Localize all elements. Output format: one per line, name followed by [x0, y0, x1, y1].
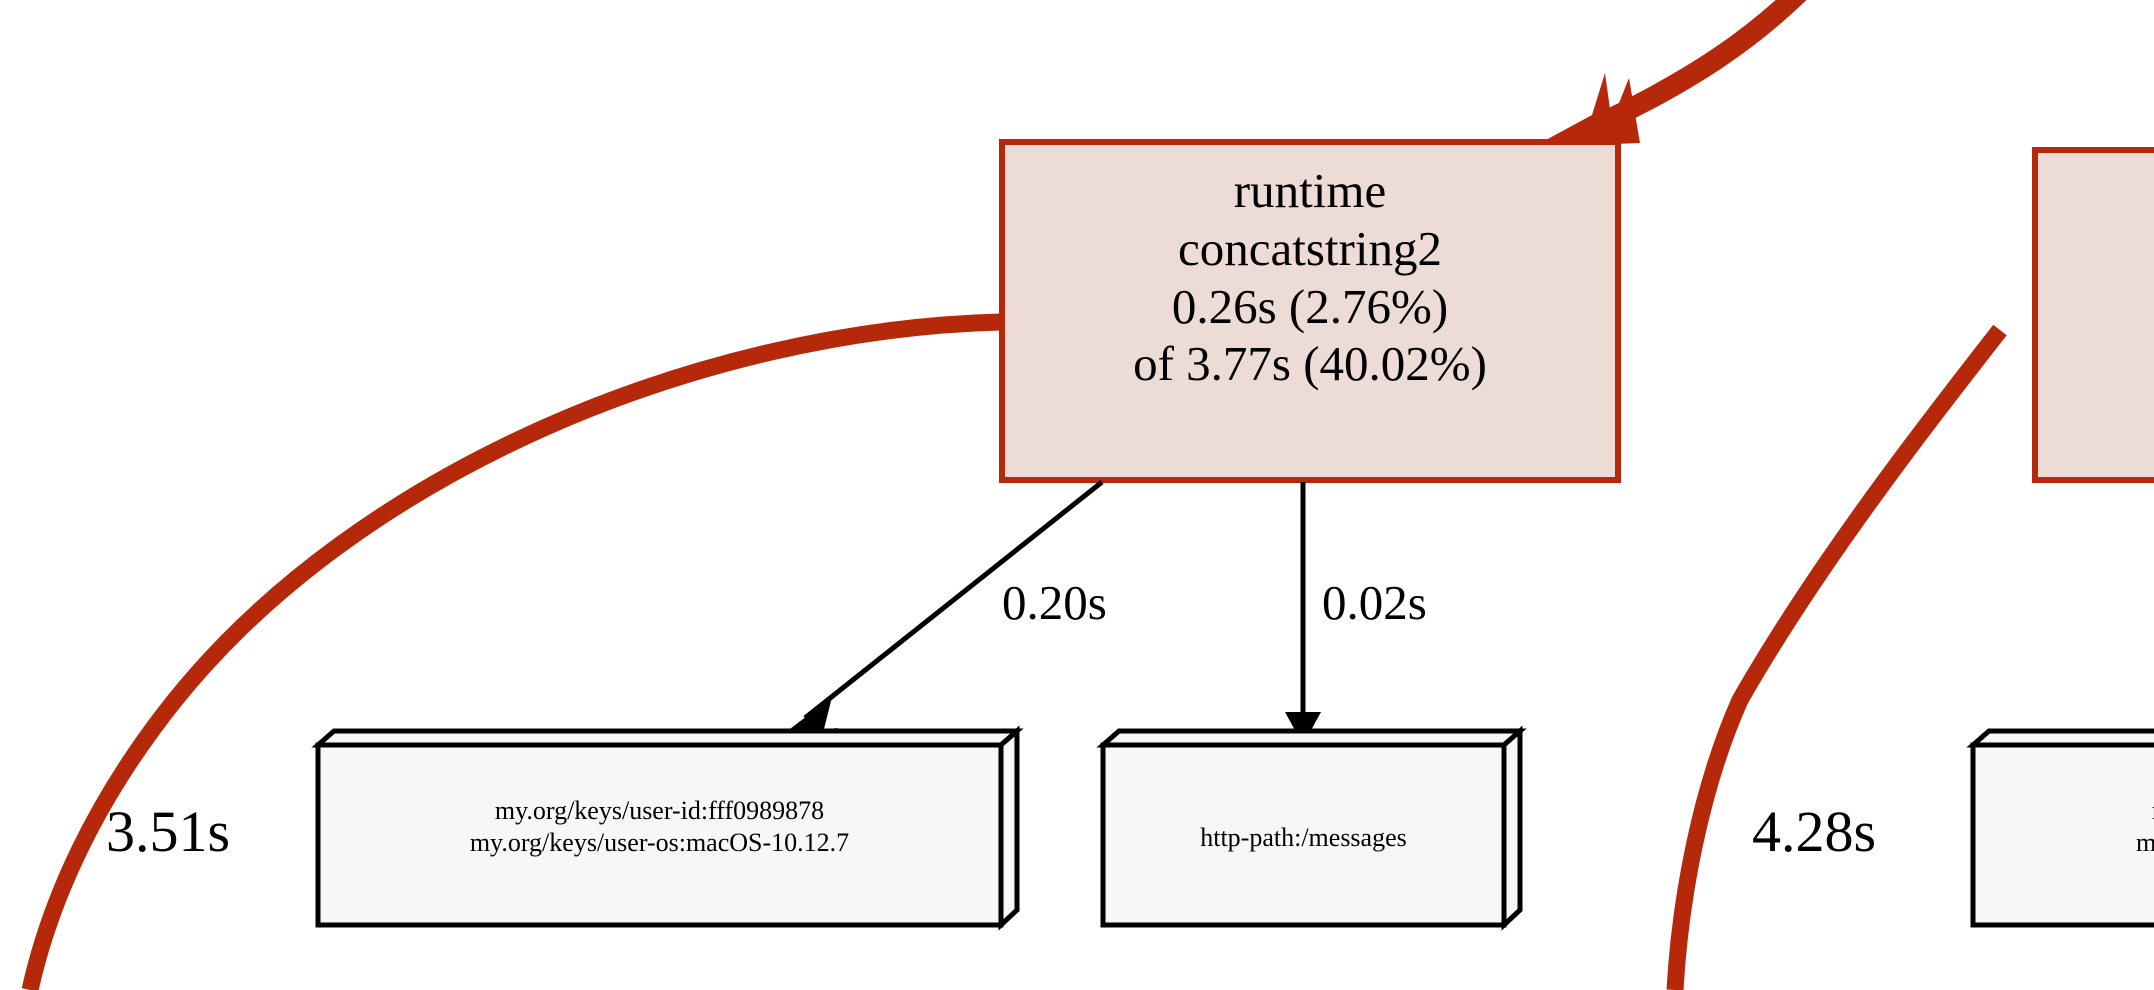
tag-box-right-clipped-line-2: my.org/ke	[1973, 827, 2154, 859]
focus-node-line-1: runtime	[1002, 162, 1618, 220]
edge-label-http-path: 0.02s	[1322, 578, 1427, 627]
tag-box-right-clipped-line-1: my.org	[1973, 795, 2154, 827]
tag-box-user-line-1: my.org/keys/user-id:fff0989878	[318, 795, 1001, 827]
tag-box-user-line-2: my.org/keys/user-os:macOS-10.12.7	[318, 827, 1001, 859]
tag-box-http-path-label: http-path:/messages	[1103, 822, 1504, 854]
focus-node-line-3: 0.26s (2.76%)	[1002, 278, 1618, 336]
call-graph-canvas: runtime concatstring2 0.26s (2.76%) of 3…	[0, 0, 2154, 990]
hot-edge-incoming	[1544, 0, 1830, 146]
total-label-left: 3.51s	[106, 803, 230, 861]
tag-box-http-path-line-1: http-path:/messages	[1103, 822, 1504, 854]
edge-label-user-tags: 0.20s	[1002, 578, 1107, 627]
focus-node-line-4: of 3.77s (40.02%)	[1002, 335, 1618, 393]
cold-edge-http-path	[1285, 482, 1321, 745]
focus-node-line-2: concatstring2	[1002, 220, 1618, 278]
total-label-right: 4.28s	[1752, 803, 1876, 861]
tag-box-right-clipped-label: my.org my.org/ke	[1973, 795, 2154, 858]
clipped-right-node-line-1: 0.	[2035, 283, 2154, 341]
hot-edge-outgoing-right	[1675, 330, 2000, 990]
focus-node-label: runtime concatstring2 0.26s (2.76%) of 3…	[1002, 162, 1618, 393]
tag-box-user-label: my.org/keys/user-id:fff0989878 my.org/ke…	[318, 795, 1001, 858]
clipped-right-node-label: 0. of 4	[2035, 283, 2154, 399]
clipped-right-node-line-2: of 4	[2035, 341, 2154, 399]
